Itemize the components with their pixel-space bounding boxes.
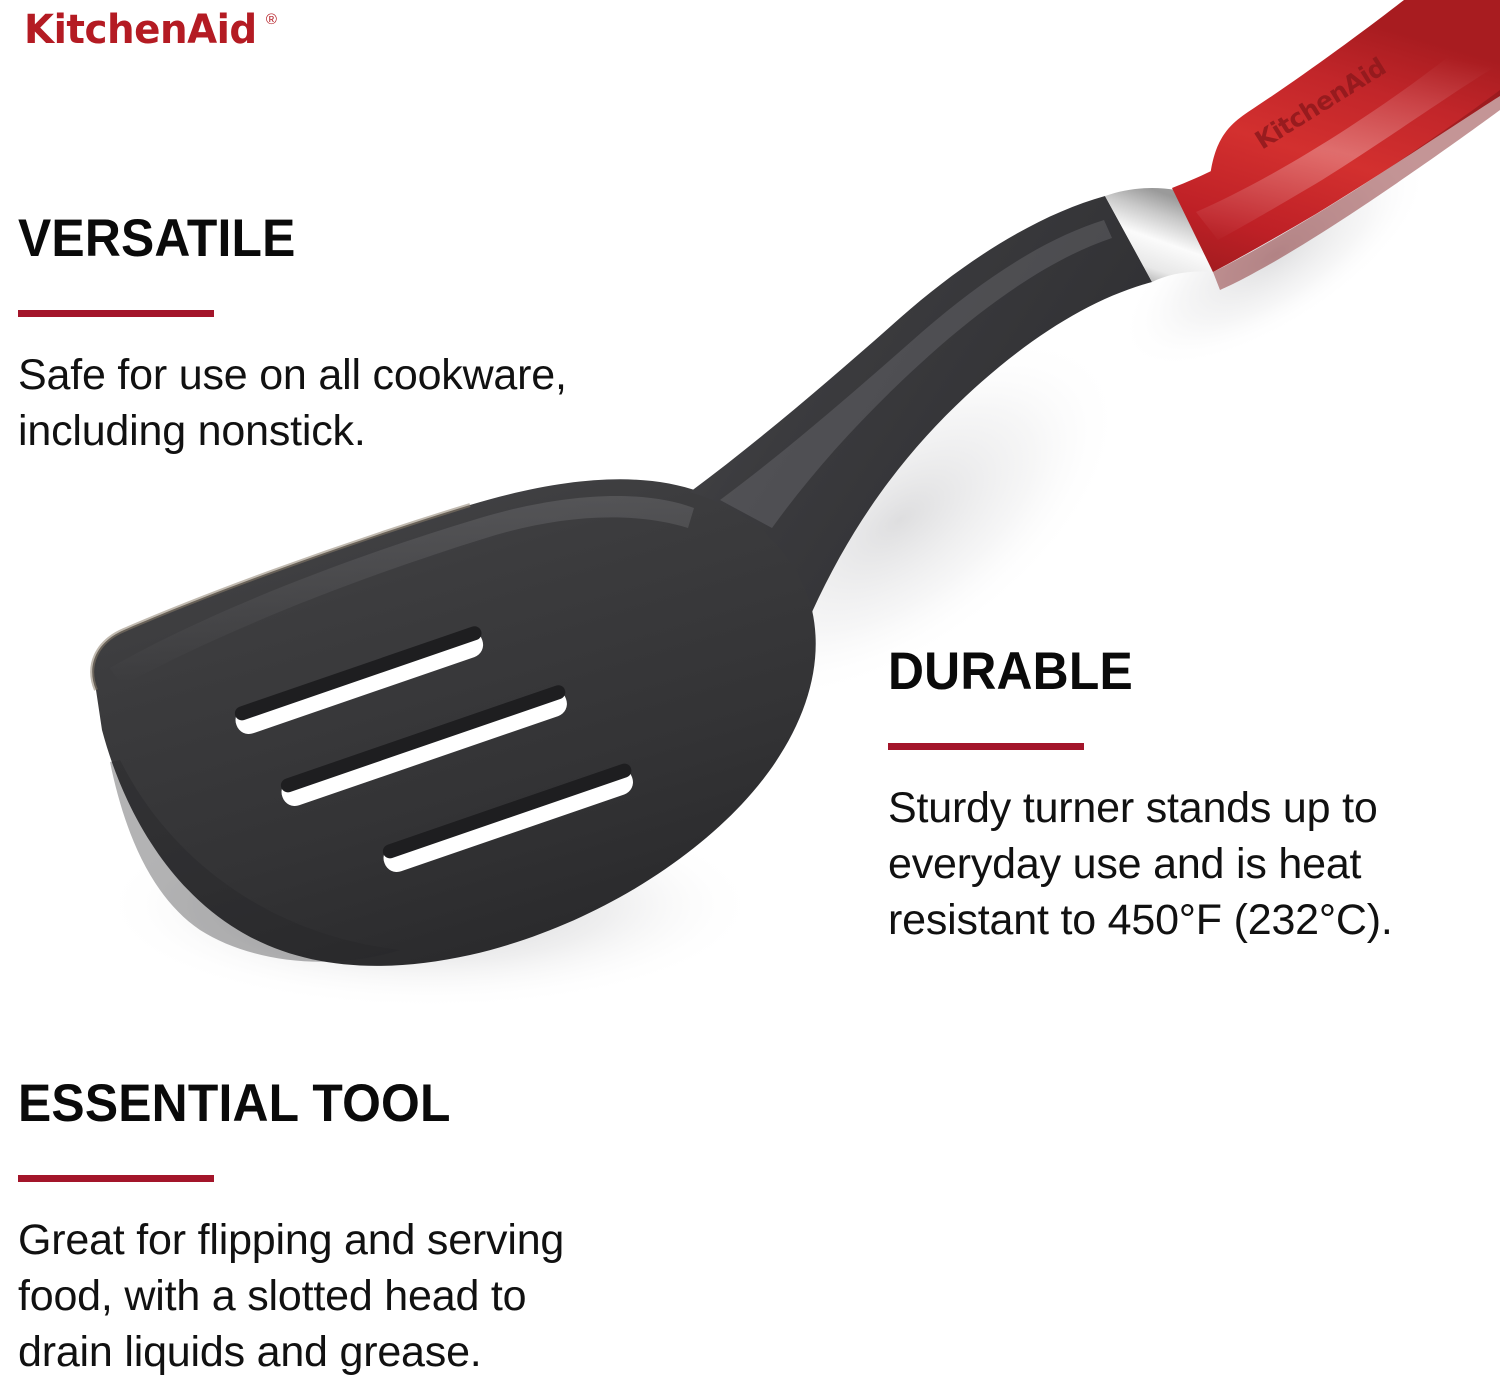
head-slot-1: [232, 627, 487, 737]
feature-block-essential-tool: ESSENTIAL TOOL Great for flipping and se…: [18, 1077, 564, 1380]
handle-ferrule: [1105, 188, 1213, 282]
neck-highlight: [720, 220, 1112, 528]
feature-body-line: Safe for use on all cookware,: [18, 347, 567, 403]
head-slot-2: [278, 686, 570, 809]
head-slots: [232, 624, 637, 875]
feature-body-line: food, with a slotted head to: [18, 1268, 564, 1324]
feature-body-durable: Sturdy turner stands up to everyday use …: [888, 780, 1393, 948]
feature-body-versatile: Safe for use on all cookware, including …: [18, 347, 567, 459]
feature-accent-rule-durable: [888, 743, 1084, 750]
feature-body-line: Great for flipping and serving: [18, 1212, 564, 1268]
head-lower-shading: [110, 760, 400, 962]
feature-body-line: resistant to 450°F (232°C).: [888, 892, 1393, 948]
head-edge-highlight: [92, 505, 470, 690]
product-infographic: KitchenAid KitchenAid ® VERSATILE Safe f…: [0, 0, 1500, 1400]
head-top-sheen: [110, 496, 694, 686]
head-shadow: [100, 800, 760, 1010]
registered-trademark-icon: ®: [266, 12, 277, 27]
brand-wordmark: KitchenAid: [24, 10, 257, 50]
turner-neck: [690, 196, 1152, 612]
handle-shine: [1196, 22, 1500, 240]
handle-shadow: [1086, 98, 1464, 411]
head-slot-2-inner: [279, 683, 567, 794]
feature-body-line: drain liquids and grease.: [18, 1324, 564, 1380]
head-slot-3-inner: [381, 762, 633, 861]
handle-lower-shade: [1213, 90, 1500, 290]
feature-heading-versatile: VERSATILE: [18, 212, 534, 265]
turner-head: [92, 479, 816, 966]
feature-body-line: including nonstick.: [18, 403, 567, 459]
feature-body-line: Sturdy turner stands up to: [888, 780, 1393, 836]
feature-accent-rule-essential-tool: [18, 1175, 214, 1182]
feature-heading-durable: DURABLE: [888, 645, 1362, 698]
handle-body: [1172, 0, 1500, 272]
head-slot-3: [380, 765, 637, 876]
feature-body-line: everyday use and is heat: [888, 836, 1393, 892]
feature-block-versatile: VERSATILE Safe for use on all cookware, …: [18, 212, 567, 459]
feature-accent-rule-versatile: [18, 310, 214, 317]
feature-heading-essential-tool: ESSENTIAL TOOL: [18, 1077, 531, 1130]
feature-block-durable: DURABLE Sturdy turner stands up to every…: [888, 645, 1393, 948]
handle: [1176, 0, 1500, 272]
handle-embossed-logo: KitchenAid: [1250, 52, 1391, 155]
head-slot-1-inner: [233, 624, 483, 722]
feature-body-essential-tool: Great for flipping and serving food, wit…: [18, 1212, 564, 1380]
brand-logo: KitchenAid ®: [24, 10, 277, 50]
